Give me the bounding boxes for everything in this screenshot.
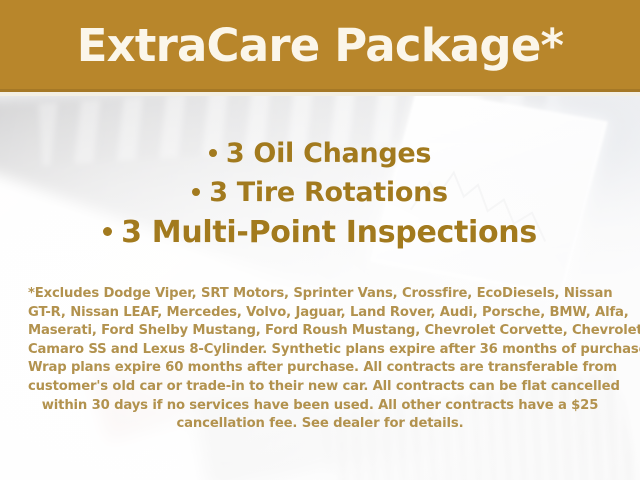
disclaimer-line: Maserati, Ford Shelby Mustang, Ford Rous… bbox=[28, 322, 612, 341]
extracare-package-promo-card: ExtraCare Package* 3 Oil Changes 3 Tire … bbox=[0, 0, 640, 480]
header-band-underline bbox=[0, 92, 640, 96]
page-title: ExtraCare Package* bbox=[77, 23, 564, 68]
disclaimer-line: *Excludes Dodge Viper, SRT Motors, Sprin… bbox=[28, 285, 612, 304]
bullet-dot-icon bbox=[103, 227, 112, 236]
bullet-dot-icon bbox=[192, 188, 200, 196]
disclaimer-line: Wrap plans expire 60 months after purcha… bbox=[28, 359, 612, 378]
list-item: 3 Oil Changes bbox=[0, 140, 640, 167]
disclaimer-line: GT-R, Nissan LEAF, Mercedes, Volvo, Jagu… bbox=[28, 304, 612, 323]
benefit-label: 3 Tire Rotations bbox=[209, 177, 448, 208]
disclaimer-line: within 30 days if no services have been … bbox=[28, 397, 612, 416]
benefits-list: 3 Oil Changes 3 Tire Rotations 3 Multi-P… bbox=[0, 140, 640, 248]
bullet-dot-icon bbox=[209, 149, 217, 157]
disclaimer-line: cancellation fee. See dealer for details… bbox=[28, 415, 612, 434]
header-band: ExtraCare Package* bbox=[0, 0, 640, 92]
disclaimer-line: customer's old car or trade-in to their … bbox=[28, 378, 612, 397]
benefit-label: 3 Multi-Point Inspections bbox=[121, 215, 537, 250]
disclaimer-text: *Excludes Dodge Viper, SRT Motors, Sprin… bbox=[28, 285, 612, 434]
list-item: 3 Tire Rotations bbox=[0, 179, 640, 206]
disclaimer-line: Camaro SS and Lexus 8-Cylinder. Syntheti… bbox=[28, 341, 612, 360]
benefit-label: 3 Oil Changes bbox=[226, 138, 431, 169]
list-item: 3 Multi-Point Inspections bbox=[0, 218, 640, 248]
